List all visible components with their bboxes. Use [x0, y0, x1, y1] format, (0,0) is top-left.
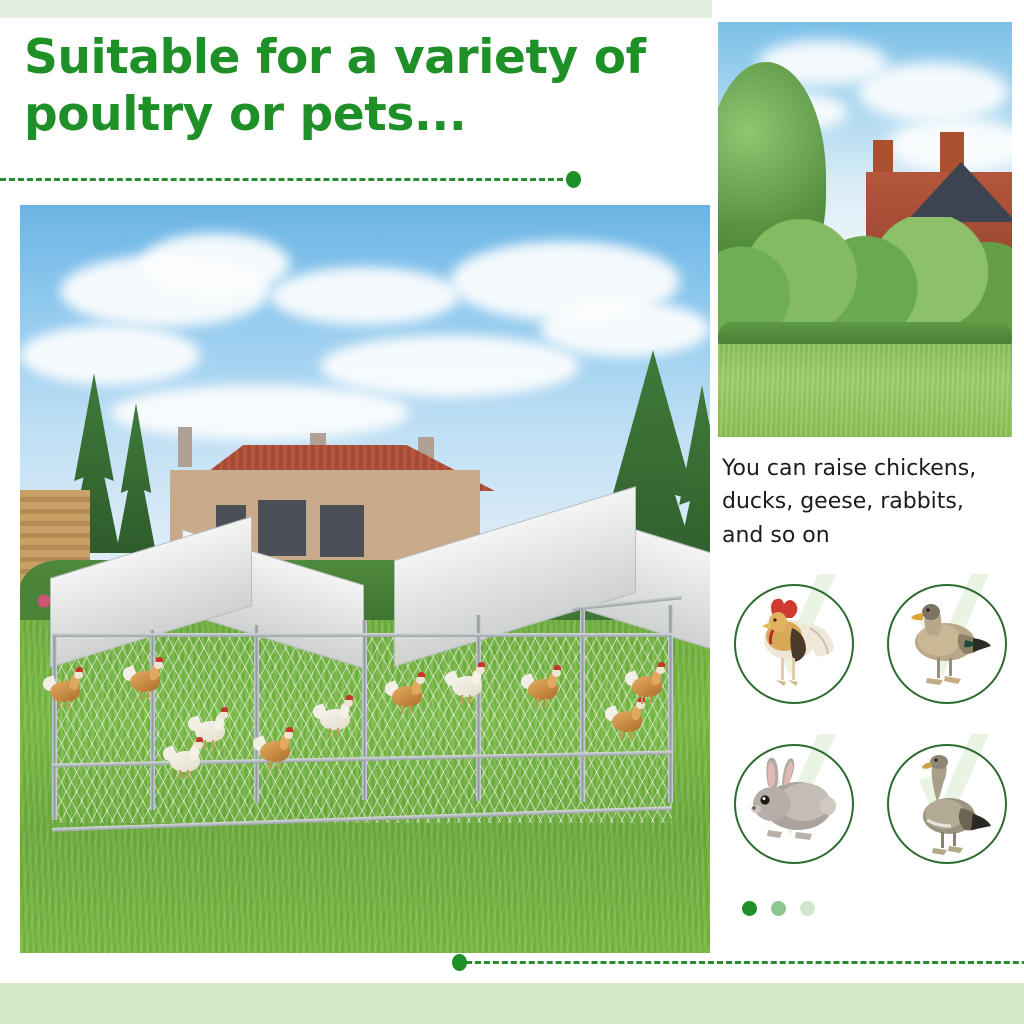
animal-ring	[734, 584, 854, 704]
dashed-divider-bottom	[452, 960, 1024, 964]
pagination-dot[interactable]	[771, 901, 786, 916]
animal-ring	[734, 744, 854, 864]
caption-text: You can raise chickens, ducks, geese, ra…	[722, 452, 1012, 552]
coop-post	[476, 615, 481, 801]
product-feature-page: Suitable for a variety of poultry or pet…	[0, 0, 1024, 1024]
dashed-line	[466, 961, 1024, 964]
pagination-dot[interactable]	[800, 901, 815, 916]
coop-post	[150, 630, 155, 810]
animal-cell-rabbit[interactable]	[728, 738, 856, 866]
headline-line-2: poultry or pets...	[24, 87, 684, 144]
top-accent-band	[0, 0, 712, 18]
chimney	[178, 427, 192, 467]
animal-icon-grid	[726, 578, 1016, 876]
coop-post	[362, 620, 367, 800]
bottom-accent-band	[0, 983, 1024, 1024]
carousel-pagination[interactable]	[742, 901, 832, 919]
dashed-line-end-dot	[566, 171, 581, 188]
cloud	[540, 301, 710, 357]
dashed-divider-top	[0, 177, 590, 181]
lawn	[718, 344, 1012, 437]
cloud	[140, 233, 290, 295]
pagination-dot-active[interactable]	[742, 901, 757, 916]
cloud	[320, 335, 580, 397]
animal-cell-goose[interactable]	[881, 738, 1009, 866]
coop-post	[52, 635, 57, 820]
dashed-line	[0, 178, 572, 181]
animal-ring	[887, 744, 1007, 864]
coop-post	[580, 610, 585, 802]
cloud	[858, 62, 1008, 122]
inset-garden-photo	[718, 22, 1012, 437]
dashed-line-start-dot	[452, 954, 467, 971]
coop-post	[254, 625, 259, 803]
animal-cell-chicken[interactable]	[728, 578, 856, 706]
animal-cell-duck[interactable]	[881, 578, 1009, 706]
coop-top-rail	[52, 633, 672, 637]
page-title: Suitable for a variety of poultry or pet…	[24, 30, 684, 144]
hero-product-photo	[20, 205, 710, 953]
headline-line-1: Suitable for a variety of	[24, 30, 684, 87]
animal-ring	[887, 584, 1007, 704]
cloud	[270, 267, 460, 325]
